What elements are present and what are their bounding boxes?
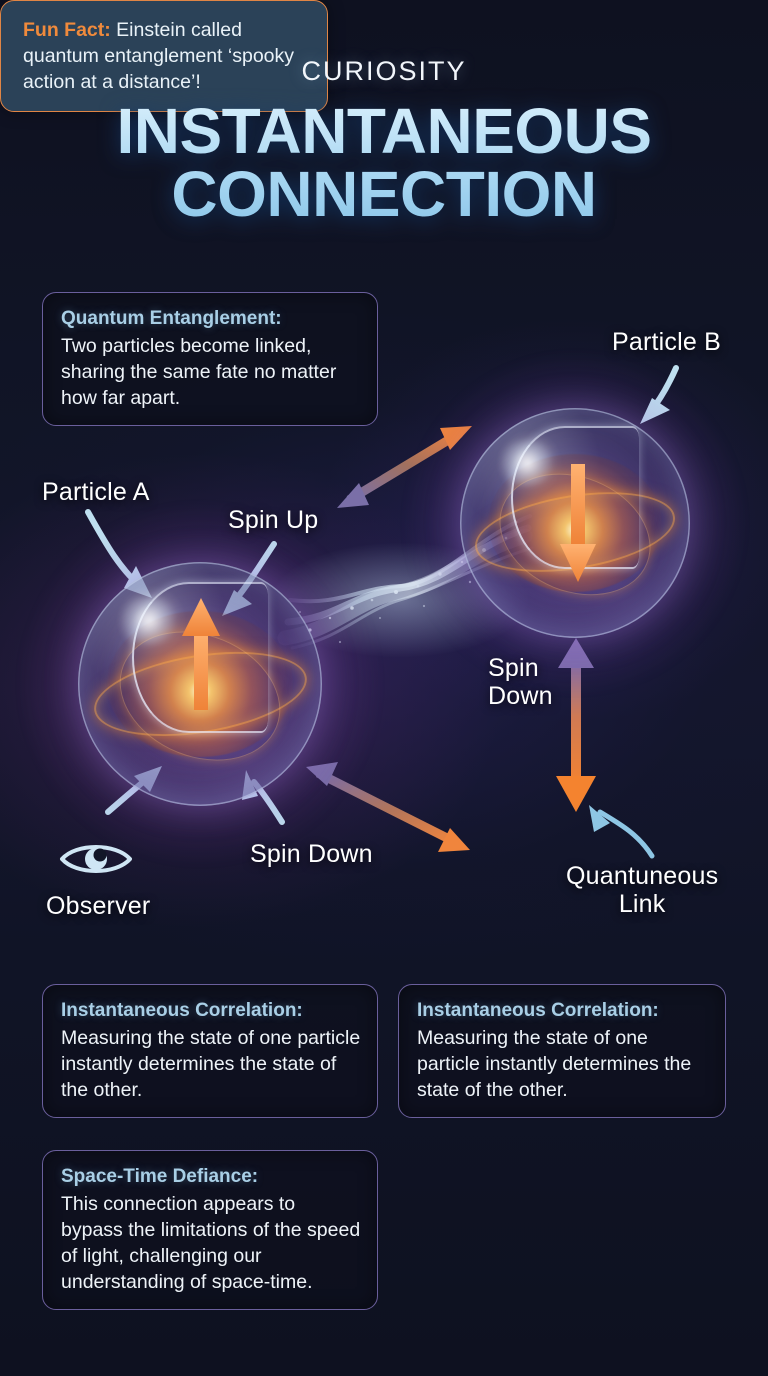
card-body: This connection appears to bypass the li…	[61, 1191, 361, 1296]
card-body: Two particles become linked, sharing the…	[61, 333, 361, 411]
card-instantaneous-correlation-right: Instantaneous Correlation: Measuring the…	[398, 984, 726, 1118]
card-body: Measuring the state of one particle inst…	[61, 1025, 361, 1103]
arrow-down-icon	[560, 464, 596, 582]
card-space-time-defiance: Space-Time Defiance: This connection app…	[42, 1150, 378, 1310]
label-observer: Observer	[46, 892, 150, 920]
infographic-poster: CURIOSITY INSTANTANEOUS CONNECTION	[0, 0, 768, 1376]
page-title: INSTANTANEOUS CONNECTION	[0, 100, 768, 225]
card-heading: Instantaneous Correlation:	[417, 999, 709, 1024]
card-heading: Instantaneous Correlation:	[61, 999, 361, 1024]
card-instantaneous-correlation-left: Instantaneous Correlation: Measuring the…	[42, 984, 378, 1118]
label-spin-up: Spin Up	[228, 506, 318, 534]
eye-icon	[58, 838, 134, 880]
card-heading: Quantum Entanglement:	[61, 307, 361, 332]
label-spin-down-bottom: Spin Down	[250, 840, 373, 868]
poster-header: CURIOSITY INSTANTANEOUS CONNECTION	[0, 58, 768, 225]
kicker-text: CURIOSITY	[0, 58, 768, 85]
card-heading: Space-Time Defiance:	[61, 1165, 361, 1190]
card-body: Measuring the state of one particle inst…	[417, 1025, 709, 1103]
label-quantuneous-link: Quantuneous Link	[566, 862, 718, 918]
arrow-up-icon	[182, 598, 220, 710]
fun-fact-label: Fun Fact:	[23, 19, 111, 41]
label-spin-down-right: Spin Down	[488, 654, 553, 710]
label-particle-b: Particle B	[612, 328, 721, 356]
title-line-2: CONNECTION	[0, 163, 768, 226]
pointer-arrow-quantuneous-link	[600, 812, 652, 856]
title-line-1: INSTANTANEOUS	[116, 95, 651, 167]
card-quantum-entanglement: Quantum Entanglement: Two particles beco…	[42, 292, 378, 426]
label-particle-a: Particle A	[42, 478, 150, 506]
